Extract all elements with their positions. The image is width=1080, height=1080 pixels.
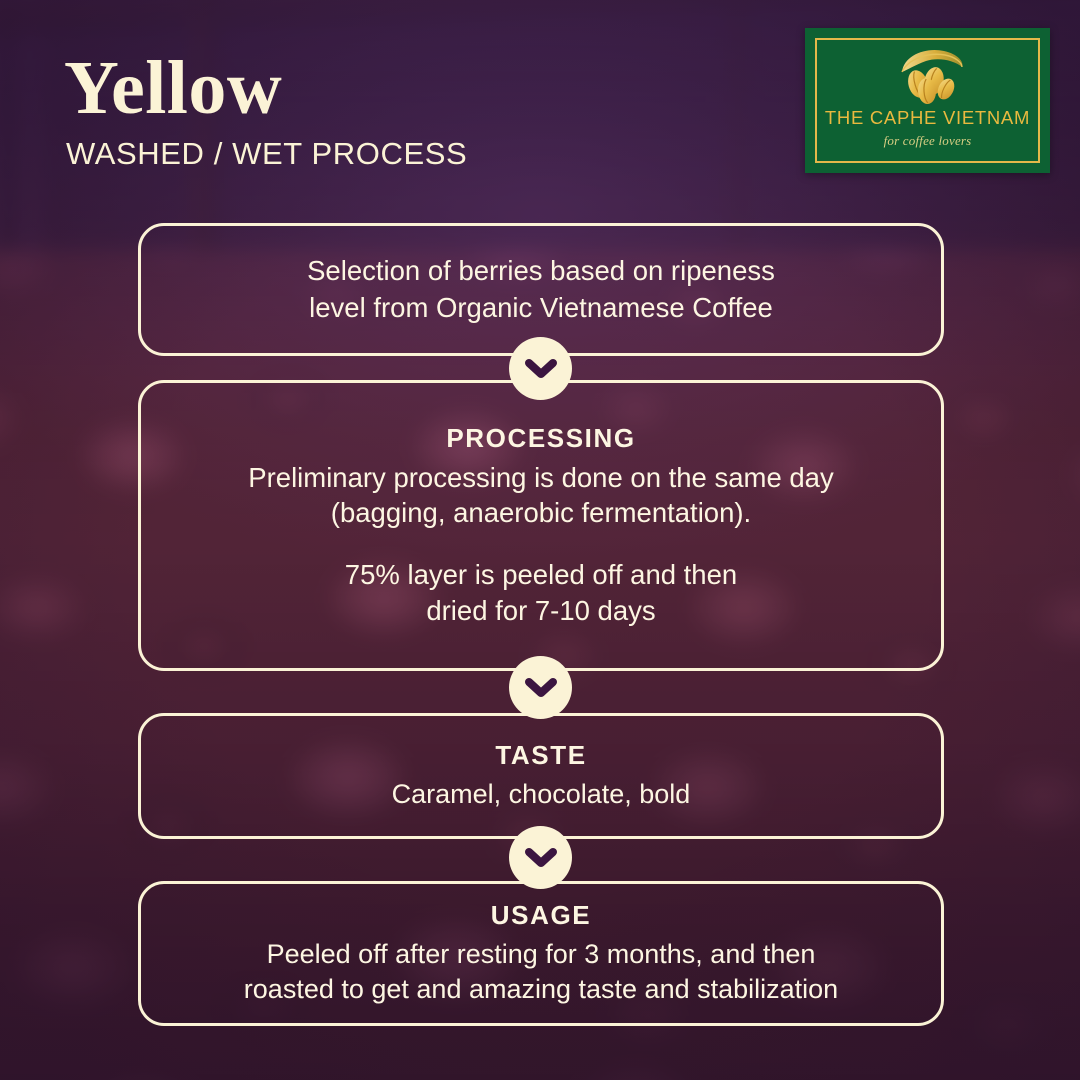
flow-step-processing: PROCESSING Preliminary processing is don… [138,380,944,671]
chevron-down-icon-3 [509,826,572,889]
chevron-down-icon-1 [509,337,572,400]
flow-step-selection-text: Selection of berries based on ripeness l… [307,253,775,326]
flow-step-processing-text: Preliminary processing is done on the sa… [248,460,833,532]
page-title: Yellow [64,50,282,126]
flow-step-usage-text: Peeled off after resting for 3 months, a… [244,937,838,1007]
flow-step-taste-heading: TASTE [495,740,586,771]
logo-tagline: for coffee lovers [884,134,972,147]
infographic-poster: Yellow WASHED / WET PROCESS [0,0,1080,1080]
flow-step-usage: USAGE Peeled off after resting for 3 mon… [138,881,944,1026]
coffee-beans-leaf-icon [882,46,974,108]
flow-step-usage-heading: USAGE [491,900,591,931]
flow-step-processing-text-2: 75% layer is peeled off and then dried f… [345,557,737,629]
logo-inner-frame: THE CAPHE VIETNAM for coffee lovers [815,38,1040,163]
page-subtitle: WASHED / WET PROCESS [66,138,467,169]
brand-logo: THE CAPHE VIETNAM for coffee lovers [805,28,1050,173]
logo-brand-name: THE CAPHE VIETNAM [825,109,1030,128]
flow-step-taste: TASTE Caramel, chocolate, bold [138,713,944,839]
poster-content: Yellow WASHED / WET PROCESS [0,0,1080,1080]
flow-step-processing-heading: PROCESSING [446,423,635,454]
chevron-down-icon-2 [509,656,572,719]
flow-step-taste-text: Caramel, chocolate, bold [392,777,691,812]
